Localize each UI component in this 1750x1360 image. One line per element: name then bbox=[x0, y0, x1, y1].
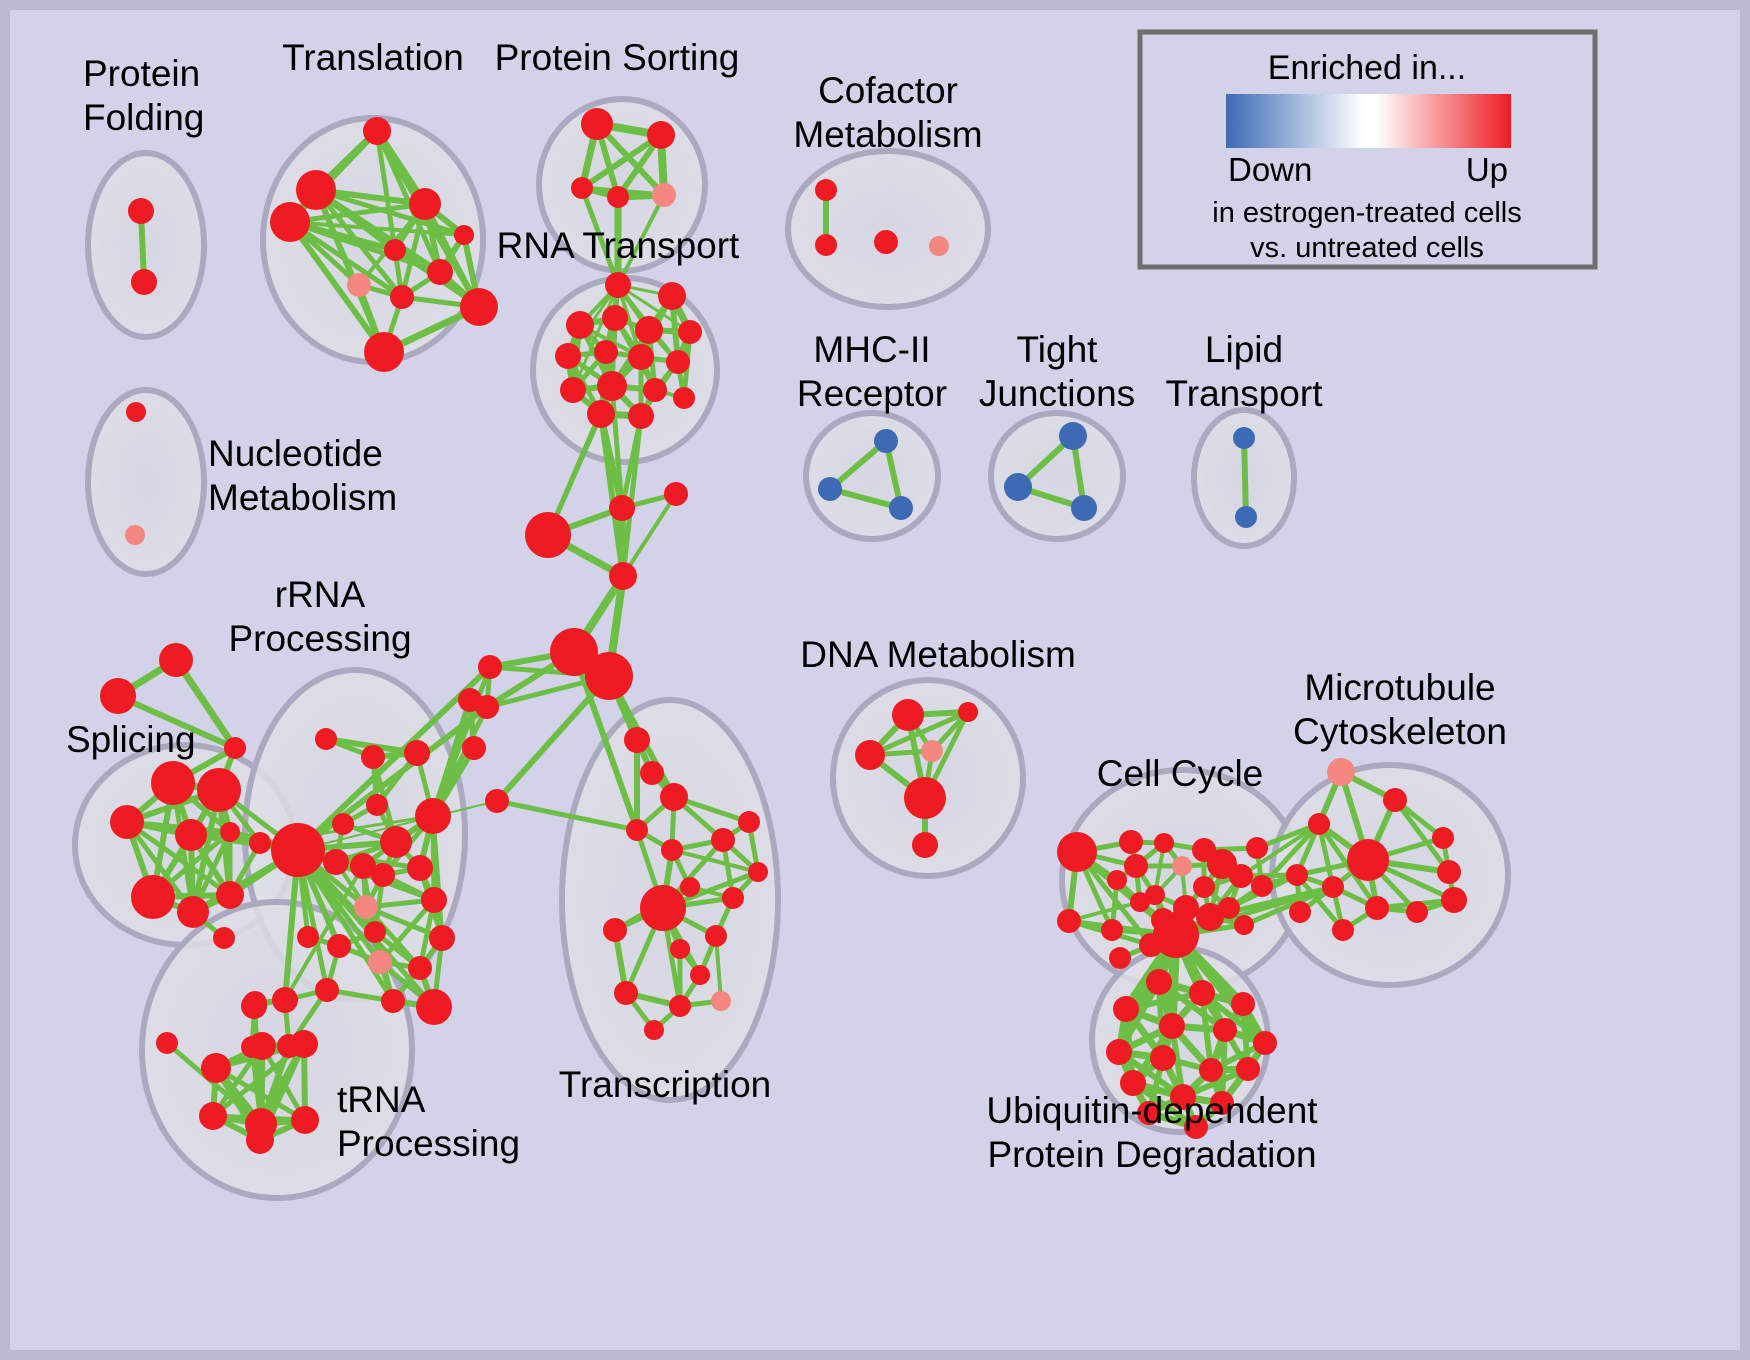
network-node[interactable] bbox=[1189, 980, 1215, 1006]
network-node[interactable] bbox=[678, 320, 702, 344]
network-node[interactable] bbox=[1193, 876, 1215, 898]
legend-title: Enriched in... bbox=[1268, 49, 1466, 87]
network-node[interactable] bbox=[409, 188, 441, 220]
network-node[interactable] bbox=[525, 512, 571, 558]
network-node[interactable] bbox=[958, 702, 978, 722]
network-node[interactable] bbox=[1322, 876, 1344, 898]
network-node[interactable] bbox=[874, 230, 898, 254]
network-node[interactable] bbox=[371, 863, 395, 887]
cluster-label-line: Protein bbox=[83, 53, 200, 94]
network-node[interactable] bbox=[1071, 495, 1097, 521]
network-node[interactable] bbox=[315, 978, 339, 1002]
network-node[interactable] bbox=[197, 768, 241, 812]
network-node[interactable] bbox=[597, 371, 627, 401]
network-edge bbox=[1244, 438, 1246, 517]
network-node[interactable] bbox=[1057, 909, 1081, 933]
network-node[interactable] bbox=[1124, 854, 1148, 878]
network-node[interactable] bbox=[427, 259, 453, 285]
network-node[interactable] bbox=[421, 887, 447, 913]
network-node[interactable] bbox=[100, 678, 136, 714]
network-node[interactable] bbox=[628, 344, 654, 370]
network-node[interactable] bbox=[126, 402, 146, 422]
network-node[interactable] bbox=[892, 699, 924, 731]
network-node[interactable] bbox=[680, 877, 700, 897]
network-node[interactable] bbox=[361, 745, 385, 769]
network-node[interactable] bbox=[323, 849, 349, 875]
network-node[interactable] bbox=[390, 285, 414, 309]
network-node[interactable] bbox=[272, 987, 298, 1013]
network-node[interactable] bbox=[241, 993, 267, 1019]
network-node[interactable] bbox=[1154, 833, 1174, 853]
network-node[interactable] bbox=[571, 177, 593, 199]
network-node[interactable] bbox=[587, 400, 615, 428]
halo-protein-folding bbox=[88, 153, 204, 337]
network-node[interactable] bbox=[177, 896, 209, 928]
network-node[interactable] bbox=[670, 939, 690, 959]
network-node[interactable] bbox=[607, 186, 629, 208]
network-node[interactable] bbox=[156, 1032, 178, 1054]
halo-nucleotide-metabolism bbox=[88, 390, 204, 574]
network-node[interactable] bbox=[416, 989, 452, 1025]
network-node[interactable] bbox=[1101, 919, 1123, 941]
network-node[interactable] bbox=[290, 1030, 318, 1058]
network-node[interactable] bbox=[1057, 832, 1097, 872]
network-node[interactable] bbox=[415, 798, 451, 834]
network-node[interactable] bbox=[364, 332, 404, 372]
network-node[interactable] bbox=[1236, 1057, 1260, 1081]
network-node[interactable] bbox=[249, 832, 271, 854]
legend-low-label: Down bbox=[1228, 151, 1312, 188]
network-node[interactable] bbox=[297, 926, 319, 948]
cluster-label-line: Metabolism bbox=[793, 114, 982, 155]
network-node[interactable] bbox=[384, 239, 406, 261]
network-node[interactable] bbox=[904, 777, 946, 819]
network-node[interactable] bbox=[1233, 427, 1255, 449]
network-node[interactable] bbox=[220, 822, 240, 842]
network-node[interactable] bbox=[664, 482, 688, 506]
network-node[interactable] bbox=[647, 121, 675, 149]
network-node[interactable] bbox=[408, 956, 432, 980]
network-node[interactable] bbox=[748, 862, 768, 882]
cluster-label-translation: Translation bbox=[282, 37, 464, 78]
network-node[interactable] bbox=[1229, 864, 1253, 888]
network-node[interactable] bbox=[1365, 896, 1389, 920]
network-node[interactable] bbox=[1119, 830, 1143, 854]
network-node[interactable] bbox=[224, 737, 246, 759]
cluster-label-line: Nucleotide bbox=[208, 433, 383, 474]
network-node[interactable] bbox=[1146, 969, 1172, 995]
network-node[interactable] bbox=[609, 562, 637, 590]
network-node[interactable] bbox=[628, 403, 654, 429]
network-node[interactable] bbox=[874, 429, 898, 453]
legend-subtitle-line2: vs. untreated cells bbox=[1250, 232, 1484, 264]
cluster-label-transcription: Transcription bbox=[559, 1064, 771, 1105]
network-node[interactable] bbox=[347, 273, 371, 297]
network-node[interactable] bbox=[1213, 1018, 1237, 1042]
network-node[interactable] bbox=[921, 740, 943, 762]
network-node[interactable] bbox=[1139, 933, 1163, 957]
cluster-label-protein-sorting: Protein Sorting bbox=[495, 37, 740, 78]
network-node[interactable] bbox=[566, 311, 594, 339]
network-node[interactable] bbox=[327, 934, 351, 958]
network-node[interactable] bbox=[585, 652, 633, 700]
cluster-label-cell-cycle: Cell Cycle bbox=[1097, 753, 1264, 794]
network-node[interactable] bbox=[624, 727, 650, 753]
cluster-label-line: Folding bbox=[83, 97, 204, 138]
cluster-label-line: DNA Metabolism bbox=[800, 634, 1076, 675]
network-node[interactable] bbox=[354, 895, 378, 919]
network-node[interactable] bbox=[125, 525, 145, 545]
network-node[interactable] bbox=[555, 343, 581, 369]
network-node[interactable] bbox=[581, 108, 613, 140]
network-node[interactable] bbox=[644, 1020, 664, 1040]
cluster-label-line: Translation bbox=[282, 37, 464, 78]
network-node[interactable] bbox=[1406, 901, 1428, 923]
network-node[interactable] bbox=[404, 740, 430, 766]
network-node[interactable] bbox=[603, 918, 627, 942]
network-node[interactable] bbox=[594, 340, 618, 364]
network-node[interactable] bbox=[271, 823, 325, 877]
network-node[interactable] bbox=[560, 377, 586, 403]
cluster-label-line: Splicing bbox=[66, 719, 196, 760]
cluster-label-line: MHC-II bbox=[813, 329, 930, 370]
network-node[interactable] bbox=[889, 496, 913, 520]
network-node[interactable] bbox=[661, 839, 683, 861]
network-node[interactable] bbox=[485, 789, 509, 813]
cluster-label-dna-metabolism: DNA Metabolism bbox=[800, 634, 1076, 675]
network-node[interactable] bbox=[711, 828, 735, 852]
cluster-label-line: Cell Cycle bbox=[1097, 753, 1264, 794]
cluster-label-line: Transport bbox=[1166, 373, 1324, 414]
network-node[interactable] bbox=[602, 305, 628, 331]
cluster-label-line: Protein Degradation bbox=[987, 1134, 1316, 1175]
network-node[interactable] bbox=[818, 477, 842, 501]
network-node[interactable] bbox=[1432, 827, 1454, 849]
network-node[interactable] bbox=[711, 991, 731, 1011]
network-node[interactable] bbox=[175, 819, 207, 851]
network-node[interactable] bbox=[366, 794, 388, 816]
network-node[interactable] bbox=[332, 813, 354, 835]
network-node[interactable] bbox=[131, 269, 157, 295]
network-node[interactable] bbox=[151, 761, 195, 805]
network-node[interactable] bbox=[1231, 992, 1255, 1016]
network-node[interactable] bbox=[364, 921, 386, 943]
network-node[interactable] bbox=[738, 811, 760, 833]
cluster-label-line: Lipid bbox=[1205, 329, 1283, 370]
network-node[interactable] bbox=[291, 1106, 319, 1134]
network-node[interactable] bbox=[1107, 870, 1127, 890]
network-node[interactable] bbox=[1251, 875, 1273, 897]
network-node[interactable] bbox=[315, 728, 337, 750]
network-node[interactable] bbox=[1106, 1039, 1132, 1065]
legend: Enriched in... Down Up in estrogen-treat… bbox=[1140, 32, 1595, 267]
cluster-label-line: Metabolism bbox=[208, 477, 397, 518]
network-node[interactable] bbox=[626, 819, 648, 841]
network-node[interactable] bbox=[1004, 473, 1032, 501]
network-node[interactable] bbox=[1253, 1031, 1277, 1055]
network-node[interactable] bbox=[815, 179, 837, 201]
network-node[interactable] bbox=[363, 117, 391, 145]
network-node[interactable] bbox=[1286, 864, 1308, 886]
network-node[interactable] bbox=[1234, 915, 1254, 935]
cluster-label-line: Microtubule bbox=[1304, 667, 1495, 708]
network-node[interactable] bbox=[381, 989, 405, 1013]
cluster-label-line: Junctions bbox=[979, 373, 1135, 414]
network-node[interactable] bbox=[1235, 506, 1257, 528]
network-node[interactable] bbox=[380, 826, 412, 858]
cluster-label-line: Transcription bbox=[559, 1064, 771, 1105]
network-node[interactable] bbox=[929, 236, 949, 256]
network-node[interactable] bbox=[368, 950, 392, 974]
legend-subtitle-line1: in estrogen-treated cells bbox=[1212, 197, 1522, 229]
cluster-label-splicing: Splicing bbox=[66, 719, 196, 760]
network-node[interactable] bbox=[660, 783, 688, 811]
cluster-label-line: tRNA bbox=[337, 1079, 426, 1120]
network-node[interactable] bbox=[454, 225, 474, 245]
legend-gradient-bar bbox=[1226, 94, 1511, 148]
cluster-label-line: Processing bbox=[228, 618, 411, 659]
network-node[interactable] bbox=[1246, 837, 1268, 859]
cluster-label-line: Ubiquitin-dependent bbox=[986, 1090, 1318, 1131]
network-node[interactable] bbox=[110, 805, 144, 839]
network-node[interactable] bbox=[429, 925, 455, 951]
network-node[interactable] bbox=[666, 350, 690, 374]
cluster-label-line: rRNA bbox=[275, 574, 366, 615]
network-node[interactable] bbox=[216, 881, 244, 909]
network-node[interactable] bbox=[609, 495, 635, 521]
network-node[interactable] bbox=[1441, 887, 1467, 913]
network-node[interactable] bbox=[1383, 788, 1407, 812]
network-node[interactable] bbox=[128, 198, 154, 224]
network-node[interactable] bbox=[1437, 860, 1461, 884]
network-node[interactable] bbox=[201, 1053, 231, 1083]
cluster-label-line: Cofactor bbox=[818, 70, 958, 111]
network-canvas: ProteinFoldingTranslationProtein Sorting… bbox=[0, 0, 1750, 1360]
network-node[interactable] bbox=[855, 740, 885, 770]
network-node[interactable] bbox=[1308, 813, 1330, 835]
network-node[interactable] bbox=[1347, 839, 1389, 881]
cluster-label-line: Processing bbox=[337, 1123, 520, 1164]
network-node[interactable] bbox=[640, 761, 664, 785]
network-node[interactable] bbox=[669, 995, 691, 1017]
network-node[interactable] bbox=[462, 736, 486, 760]
network-node[interactable] bbox=[652, 183, 676, 207]
network-node[interactable] bbox=[1059, 422, 1087, 450]
network-node[interactable] bbox=[270, 202, 310, 242]
network-node[interactable] bbox=[1159, 1013, 1185, 1039]
network-node[interactable] bbox=[246, 1126, 274, 1154]
network-node[interactable] bbox=[614, 981, 638, 1005]
legend-high-label: Up bbox=[1466, 151, 1508, 188]
network-node[interactable] bbox=[1113, 996, 1139, 1022]
cluster-label-rna-transport: RNA Transport bbox=[497, 225, 740, 266]
network-node[interactable] bbox=[248, 1032, 276, 1060]
halo-cofactor-metabolism bbox=[788, 151, 988, 307]
halo-mhc-ii bbox=[806, 413, 938, 539]
network-node[interactable] bbox=[722, 887, 744, 909]
network-node[interactable] bbox=[1172, 856, 1192, 876]
network-node[interactable] bbox=[658, 282, 686, 310]
network-node[interactable] bbox=[1150, 1045, 1176, 1071]
cluster-label-line: Tight bbox=[1017, 329, 1099, 370]
network-node[interactable] bbox=[1332, 919, 1354, 941]
network-node[interactable] bbox=[1218, 897, 1240, 919]
network-node[interactable] bbox=[296, 170, 336, 210]
network-node[interactable] bbox=[407, 855, 433, 881]
cluster-label-line: Receptor bbox=[797, 373, 947, 414]
network-node[interactable] bbox=[673, 387, 695, 409]
network-node[interactable] bbox=[460, 288, 498, 326]
network-node[interactable] bbox=[458, 688, 482, 712]
network-node[interactable] bbox=[605, 272, 631, 298]
network-node[interactable] bbox=[131, 875, 175, 919]
network-node[interactable] bbox=[1130, 892, 1150, 912]
network-node[interactable] bbox=[643, 378, 667, 402]
cluster-label-line: Protein Sorting bbox=[495, 37, 740, 78]
network-node[interactable] bbox=[159, 643, 193, 677]
network-node[interactable] bbox=[1109, 947, 1131, 969]
network-node[interactable] bbox=[213, 927, 235, 949]
network-node[interactable] bbox=[912, 832, 938, 858]
network-node[interactable] bbox=[640, 885, 686, 931]
network-node[interactable] bbox=[815, 234, 837, 256]
network-node[interactable] bbox=[690, 965, 710, 985]
network-node[interactable] bbox=[1199, 1058, 1223, 1082]
network-node[interactable] bbox=[1327, 758, 1355, 786]
network-node[interactable] bbox=[1289, 901, 1311, 923]
cluster-label-line: RNA Transport bbox=[497, 225, 740, 266]
cluster-label-line: Cytoskeleton bbox=[1293, 711, 1507, 752]
network-node[interactable] bbox=[705, 925, 727, 947]
network-node[interactable] bbox=[199, 1102, 227, 1130]
network-node[interactable] bbox=[635, 316, 663, 344]
network-node[interactable] bbox=[478, 655, 502, 679]
network-figure: ProteinFoldingTranslationProtein Sorting… bbox=[0, 0, 1750, 1360]
